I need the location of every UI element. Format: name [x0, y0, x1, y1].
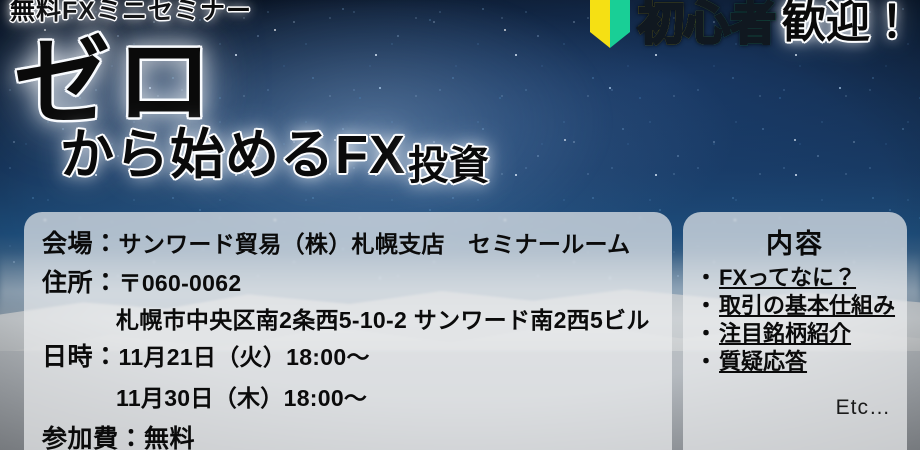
- bullet-icon: ・: [695, 292, 717, 320]
- content-list: ・ FXってなに？ ・ 取引の基本仕組み ・ 注目銘柄紹介 ・ 質疑応答: [695, 264, 899, 377]
- bullet-icon: ・: [695, 264, 717, 292]
- beginner-label: 初心者: [638, 0, 776, 46]
- info-label-venue: 会場：: [42, 224, 119, 260]
- content-panel-title: 内容: [683, 222, 907, 261]
- content-item-label: 注目銘柄紹介: [719, 320, 851, 348]
- headline-zero: ゼロ: [14, 35, 218, 131]
- beginner-welcome-strip: 初心者 歓迎！: [588, 0, 914, 48]
- headline-subtitle-main: から始めるFX: [60, 125, 406, 185]
- info-row-datetime: 日時： 11月21日（火）18:00〜: [42, 337, 662, 373]
- content-item-label: 取引の基本仕組み: [719, 292, 895, 320]
- info-label-fee: 参加費：: [42, 419, 144, 450]
- wakaba-beginner-mark-icon: [588, 0, 632, 48]
- info-panel: 会場： サンワード貿易（株）札幌支店 セミナールーム 住所： 〒060-0062…: [24, 212, 672, 450]
- info-value-venue: サンワード貿易（株）札幌支店 セミナールーム: [119, 225, 631, 259]
- info-value-fee: 無料: [144, 419, 195, 450]
- welcome-label: 歓迎！: [782, 1, 914, 45]
- info-row-venue: 会場： サンワード貿易（株）札幌支店 セミナールーム: [42, 224, 662, 260]
- content-list-item: ・ 質疑応答: [695, 348, 899, 376]
- content-panel-footer: Etc…: [836, 396, 891, 420]
- info-label-address: 住所：: [42, 263, 119, 299]
- info-value-datetime-2: 11月30日（木）18:00〜: [116, 379, 367, 413]
- info-value-postal-code: 〒060-0062: [119, 264, 242, 298]
- headline-subtitle-tail: 投資: [408, 144, 490, 188]
- content-item-label: FXってなに？: [719, 264, 856, 292]
- kicker-text: 無料FXミニセミナー: [10, 0, 252, 27]
- seminar-banner: 無料FXミニセミナー ゼロ から始めるFX投資 初心者 歓迎！ 会場： サンワー…: [0, 0, 920, 450]
- info-row-fee: 参加費： 無料: [42, 419, 662, 450]
- content-panel: 内容 ・ FXってなに？ ・ 取引の基本仕組み ・ 注目銘柄紹介 ・ 質疑応答 …: [683, 212, 907, 450]
- bullet-icon: ・: [695, 320, 717, 348]
- content-item-label: 質疑応答: [719, 348, 807, 376]
- info-row-datetime-2: 11月30日（木）18:00〜: [42, 379, 662, 413]
- info-row-address-detail: 札幌市中央区南2条西5-10-2 サンワード南2西5ビル: [42, 301, 662, 335]
- bullet-icon: ・: [695, 348, 717, 376]
- info-value-datetime-1: 11月21日（火）18:00〜: [119, 338, 370, 372]
- info-value-address-detail: 札幌市中央区南2条西5-10-2 サンワード南2西5ビル: [116, 301, 650, 335]
- headline-subtitle: から始めるFX投資: [60, 128, 490, 186]
- content-list-item: ・ FXってなに？: [695, 264, 899, 292]
- info-row-address: 住所： 〒060-0062: [42, 263, 662, 299]
- info-lines: 会場： サンワード貿易（株）札幌支店 セミナールーム 住所： 〒060-0062…: [42, 224, 662, 450]
- content-list-item: ・ 取引の基本仕組み: [695, 292, 899, 320]
- content-list-item: ・ 注目銘柄紹介: [695, 320, 899, 348]
- info-label-datetime: 日時：: [42, 337, 119, 373]
